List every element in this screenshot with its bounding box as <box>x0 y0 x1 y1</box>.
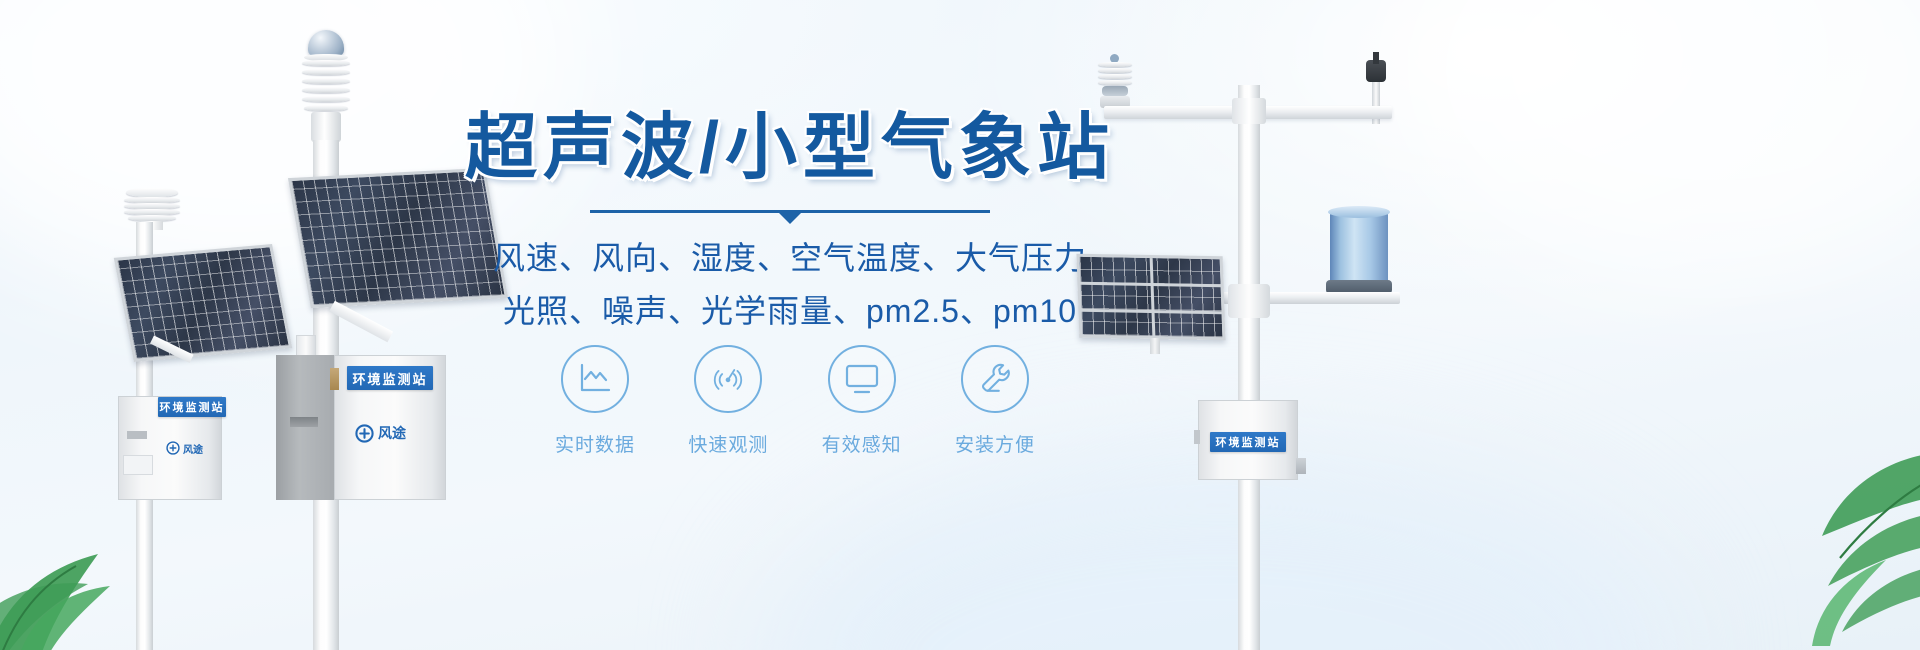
feature-label: 快速观测 <box>678 430 778 457</box>
leaf-decoration-right <box>1690 418 1920 648</box>
feature-item-fast-observation[interactable]: 快速观测 <box>678 345 778 457</box>
feature-icon-circle <box>694 345 762 413</box>
subtitle-line-1: 风速、风向、湿度、空气温度、大气压力 <box>430 233 1150 279</box>
cabinet-vent-middle <box>290 417 318 427</box>
leaf-decoration-left <box>0 450 180 650</box>
brand-logo-middle: 风途 <box>355 422 431 444</box>
cabinet-latch <box>330 368 339 390</box>
divider-triangle-icon <box>779 213 801 224</box>
nameplate-middle: 环境监测站 <box>347 366 433 390</box>
solar-panel <box>114 244 292 362</box>
dome-sensor-icon <box>308 30 344 56</box>
feature-item-effective-sensing[interactable]: 有效感知 <box>812 345 912 457</box>
feature-icon-circle <box>561 345 629 413</box>
subtitle-line-2: 光照、噪声、光学雨量、pm2.5、pm10 <box>430 286 1150 332</box>
cabinet-vent <box>127 431 147 439</box>
panel-bracket-right <box>1150 338 1160 354</box>
equipment-cabinet-dark <box>276 355 334 500</box>
rain-gauge-icon <box>1330 212 1388 284</box>
radar-signal-icon <box>710 361 746 397</box>
feature-item-easy-installation[interactable]: 安装方便 <box>945 345 1045 457</box>
sensor-base <box>311 112 341 142</box>
feature-icon-circle <box>828 345 896 413</box>
brand-mark-icon-middle <box>355 424 374 443</box>
wrench-icon <box>977 361 1013 397</box>
feature-item-realtime-data[interactable]: 实时数据 <box>545 345 645 457</box>
feature-list: 实时数据 快速观测 <box>545 345 1045 457</box>
mount-bracket <box>296 335 316 357</box>
background-glow-right <box>1400 0 1920 280</box>
page-title: 超声波/小型气象站 <box>430 112 1150 184</box>
solar-panel-right <box>1076 254 1225 341</box>
nameplate-right: 环境监测站 <box>1210 432 1286 452</box>
nameplate-left: 环境监测站 <box>158 397 226 417</box>
cabinet-latch-right <box>1296 458 1306 474</box>
feature-label: 有效感知 <box>812 430 912 457</box>
feature-icon-circle <box>961 345 1029 413</box>
title-divider <box>590 210 990 226</box>
radiation-shield-icon-middle <box>302 60 350 118</box>
sensor-antenna <box>1373 52 1379 64</box>
banner-text-block: 超声波/小型气象站 风速、风向、湿度、空气温度、大气压力 光照、噪声、光学雨量、… <box>430 0 1150 650</box>
mast-pole-right <box>1238 85 1260 650</box>
cabinet-hinge-right <box>1194 430 1200 444</box>
mast-collar-top <box>1232 98 1266 124</box>
mast-collar-mid <box>1228 284 1270 318</box>
feature-label: 实时数据 <box>545 430 645 457</box>
brand-name-middle: 风途 <box>378 423 406 443</box>
feature-label: 安装方便 <box>945 430 1045 457</box>
ultrasonic-sensor-icon <box>1098 62 1132 98</box>
product-banner: 环境监测站 风途 <box>0 0 1920 650</box>
rain-gauge-rim <box>1328 206 1390 218</box>
line-chart-icon <box>577 362 613 396</box>
brand-name-left: 风途 <box>183 441 203 456</box>
monitor-icon <box>843 363 881 395</box>
